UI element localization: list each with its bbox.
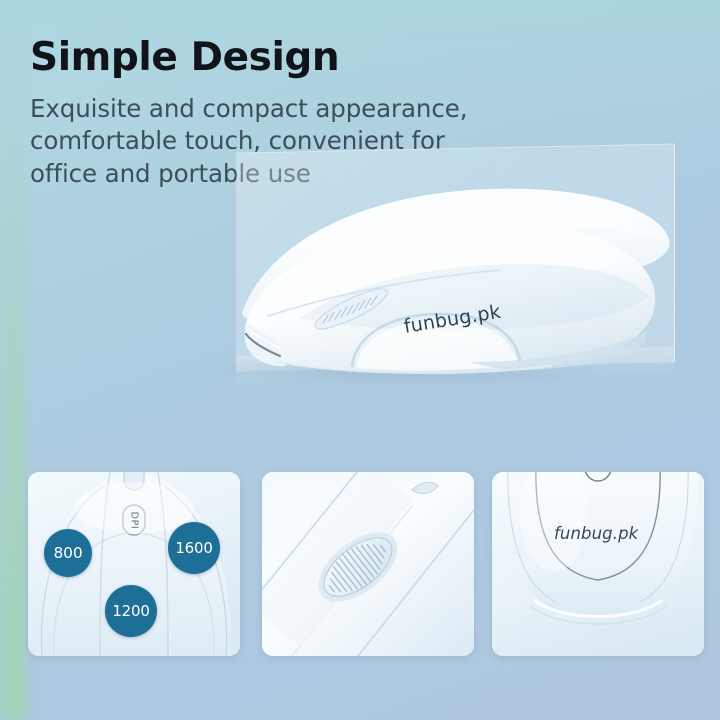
page-title: Simple Design — [30, 38, 590, 79]
dpi-bubble-1200[interactable]: 1200 — [105, 585, 157, 637]
rear-palm-rest-illustration — [492, 472, 704, 656]
feature-panel-strip: DPI 800 1600 1200 — [0, 472, 720, 658]
panel-rear-watermark: funbug.pk — [554, 524, 638, 543]
dpi-bubble-800[interactable]: 800 — [44, 529, 92, 577]
product-feature-card: Simple Design Exquisite and compact appe… — [0, 0, 720, 720]
mouse-side-profile-illustration — [0, 118, 720, 448]
scroll-wheel-closeup-illustration — [262, 472, 474, 656]
hero-product-image: funbug.pk — [0, 118, 720, 448]
dpi-bubble-1600[interactable]: 1600 — [168, 522, 220, 574]
panel-dpi-top-view[interactable]: DPI 800 1600 1200 — [28, 472, 240, 656]
panel-scroll-wheel[interactable] — [262, 472, 474, 656]
panel-rear-view[interactable]: funbug.pk — [492, 472, 704, 656]
